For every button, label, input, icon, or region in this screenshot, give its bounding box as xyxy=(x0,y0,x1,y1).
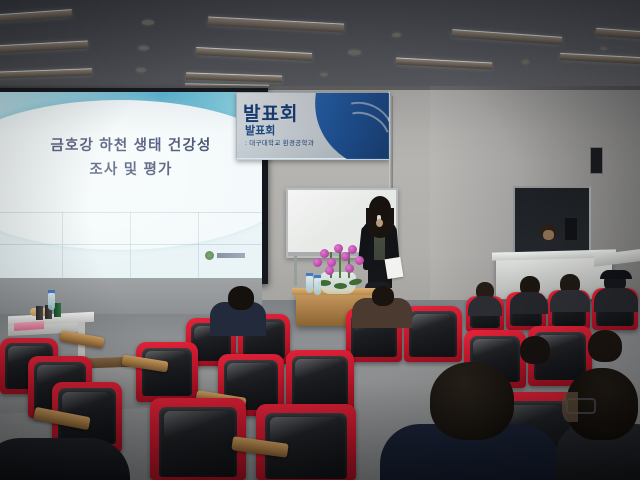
slide-title-block: 금호강 하천 생태 건강성 조사 및 평가 xyxy=(0,134,262,182)
slide-title-line-2: 조사 및 평가 xyxy=(0,158,262,182)
ceiling-vent xyxy=(600,47,607,50)
slide-title-line-1: 금호강 하천 생태 건강성 xyxy=(0,134,262,158)
ceiling-speaker-grille xyxy=(142,20,154,25)
audience-head xyxy=(372,286,394,306)
audience-torso xyxy=(594,288,638,312)
audience-torso xyxy=(550,290,590,312)
beverage-can xyxy=(54,303,61,317)
orchid-bloom xyxy=(345,264,354,273)
audience-head xyxy=(520,336,550,364)
ceiling-vent xyxy=(392,33,401,37)
auditorium-photo: 금호강 하천 생태 건강성 조사 및 평가 발표회 발표회 : 대구대학교 환경… xyxy=(0,0,640,480)
university-emblem-icon xyxy=(205,250,247,262)
orchid-bloom xyxy=(355,256,364,265)
auditorium-seat[interactable] xyxy=(136,342,198,402)
audience-torso xyxy=(510,292,548,314)
ceiling-vent xyxy=(348,50,361,55)
baseball-cap-icon xyxy=(600,270,632,279)
ceiling-vent xyxy=(522,60,529,64)
water-bottle xyxy=(48,293,55,310)
water-bottle xyxy=(306,276,313,293)
auditorium-seat[interactable] xyxy=(404,306,462,362)
ceiling-vent xyxy=(320,73,328,76)
orchid-bloom xyxy=(341,252,350,261)
loudspeaker xyxy=(565,218,577,240)
ceiling-speaker-grille xyxy=(136,68,146,72)
water-bottle xyxy=(314,278,321,295)
wall-mounted-fixture xyxy=(590,147,603,174)
banner-shadow-overlay xyxy=(236,92,388,158)
audience-head xyxy=(588,330,622,362)
audience-torso xyxy=(468,296,502,316)
auditorium-seat[interactable] xyxy=(150,398,246,480)
orchid-bloom xyxy=(348,245,357,254)
ceiling-speaker-grille xyxy=(138,46,149,50)
audience-face-foreground xyxy=(562,392,578,422)
audience-torso-foreground xyxy=(0,438,130,480)
audience-head-foreground xyxy=(430,362,514,440)
presenter-handout xyxy=(385,257,404,279)
seated-operator-face xyxy=(543,230,554,240)
projection-screen: 금호강 하천 생태 건강성 조사 및 평가 xyxy=(0,92,262,278)
beverage-can xyxy=(36,306,43,320)
orchid-bloom xyxy=(313,258,322,267)
orchid-bloom xyxy=(325,266,334,275)
ceiling xyxy=(0,0,640,92)
orchid-bloom xyxy=(334,244,343,253)
audience-head xyxy=(228,286,254,310)
presenter-hand xyxy=(376,219,383,227)
orchid-bloom xyxy=(320,249,329,258)
